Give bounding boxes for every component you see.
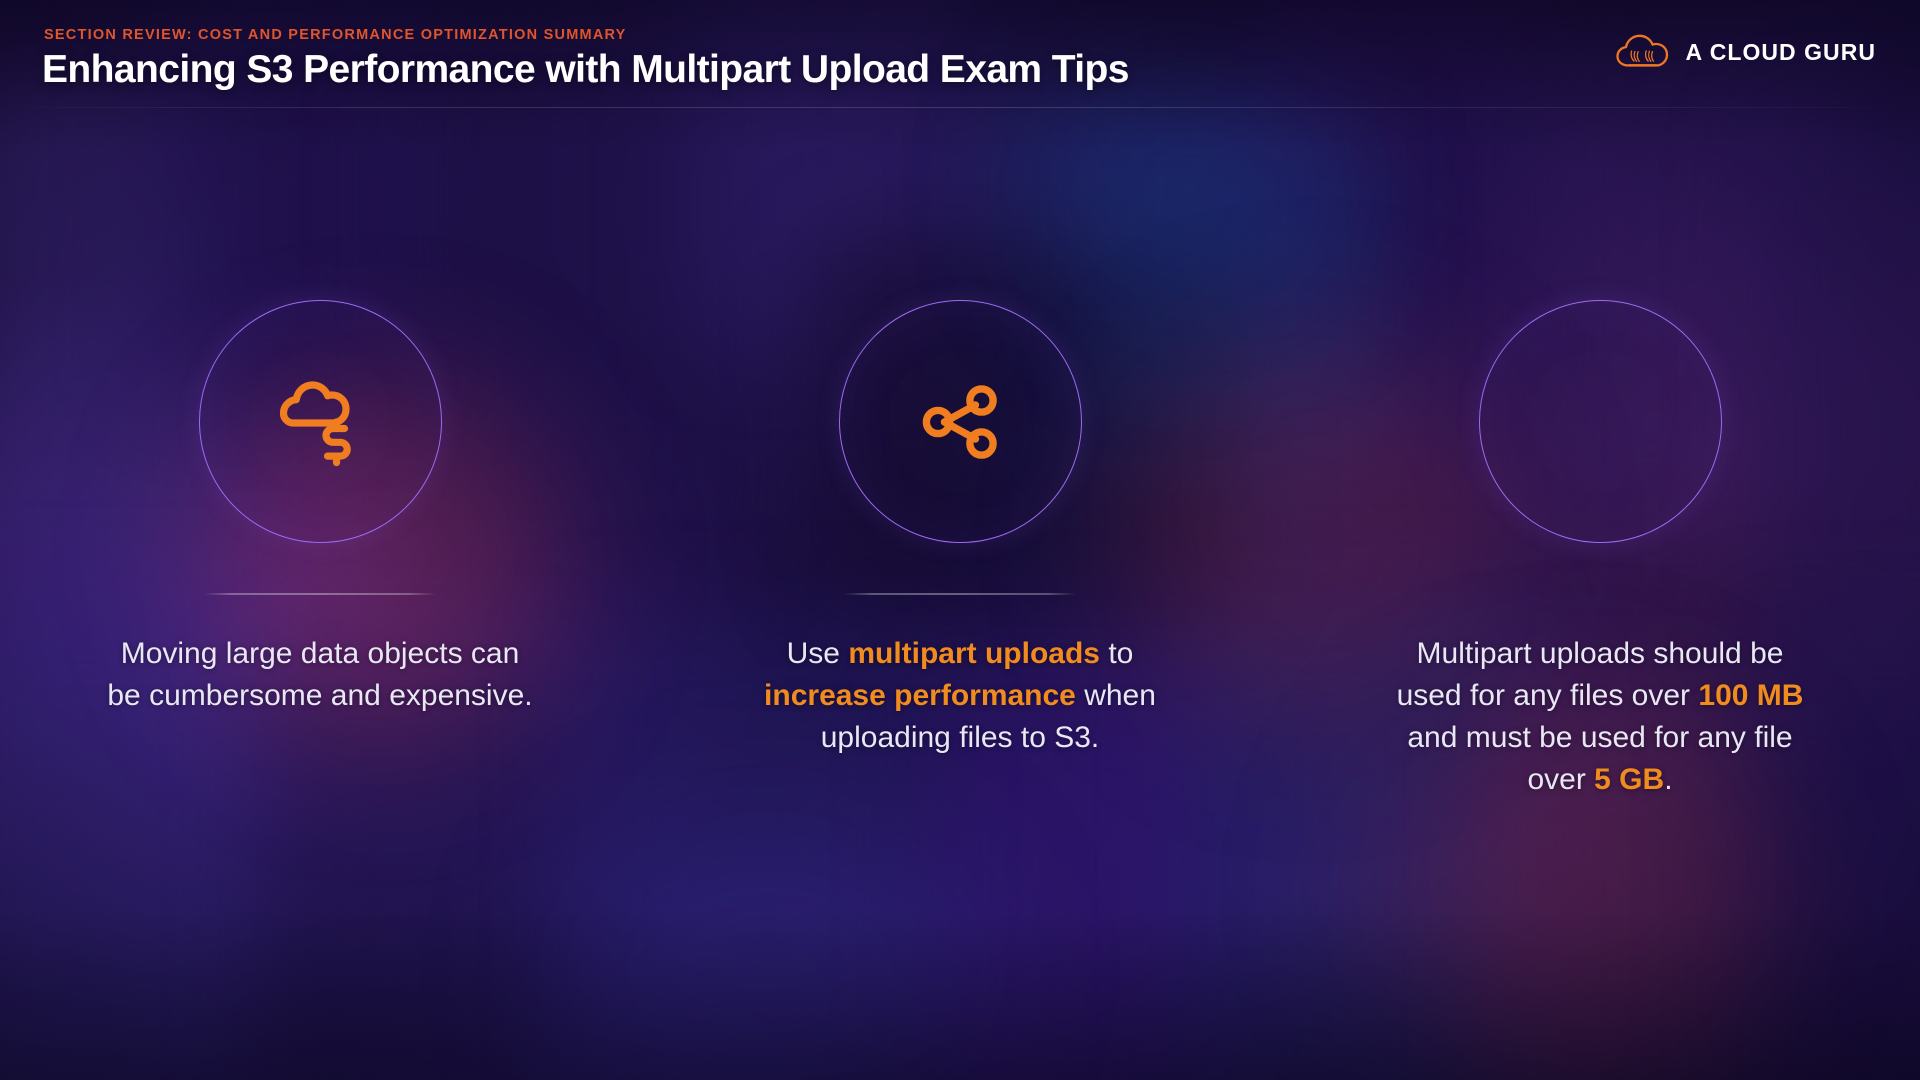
- caption-text: .: [1664, 763, 1672, 796]
- icon-circle-1: [199, 300, 442, 543]
- caption-text: Moving large data objects can be cumbers…: [107, 637, 532, 712]
- summary-column-2: Use multipart uploads to increase perfor…: [640, 300, 1280, 801]
- acloudguru-cloud-logo-icon: [1615, 32, 1671, 72]
- slide-header: SECTION REVIEW: COST AND PERFORMANCE OPT…: [0, 0, 1920, 108]
- caption-highlight: 5 GB: [1594, 763, 1664, 796]
- summary-columns: Moving large data objects can be cumbers…: [0, 300, 1920, 801]
- column-divider-2: [844, 593, 1076, 595]
- column-caption-3: Multipart uploads should be used for any…: [1380, 633, 1820, 801]
- page-title: Enhancing S3 Performance with Multipart …: [42, 48, 1129, 92]
- summary-column-1: Moving large data objects can be cumbers…: [0, 300, 640, 801]
- share-nodes-icon: [917, 379, 1003, 465]
- column-caption-2: Use multipart uploads to increase perfor…: [745, 633, 1175, 759]
- icon-circle-3: [1479, 300, 1722, 543]
- section-eyebrow: SECTION REVIEW: COST AND PERFORMANCE OPT…: [44, 27, 627, 43]
- cloud-dollar-icon: [270, 374, 370, 470]
- caption-highlight: 100 MB: [1698, 679, 1803, 712]
- summary-column-3: Multipart uploads should be used for any…: [1280, 300, 1920, 801]
- column-caption-1: Moving large data objects can be cumbers…: [105, 633, 535, 717]
- brand-name: A CLOUD GURU: [1686, 39, 1876, 66]
- column-divider-1: [204, 593, 436, 595]
- brand-lockup: A CLOUD GURU: [1615, 32, 1876, 72]
- caption-highlight: multipart uploads: [848, 637, 1100, 670]
- caption-text: Use: [787, 637, 849, 670]
- caption-text: to: [1100, 637, 1133, 670]
- icon-circle-2: [839, 300, 1082, 543]
- slide-root: SECTION REVIEW: COST AND PERFORMANCE OPT…: [0, 0, 1920, 1080]
- caption-highlight: increase performance: [764, 679, 1076, 712]
